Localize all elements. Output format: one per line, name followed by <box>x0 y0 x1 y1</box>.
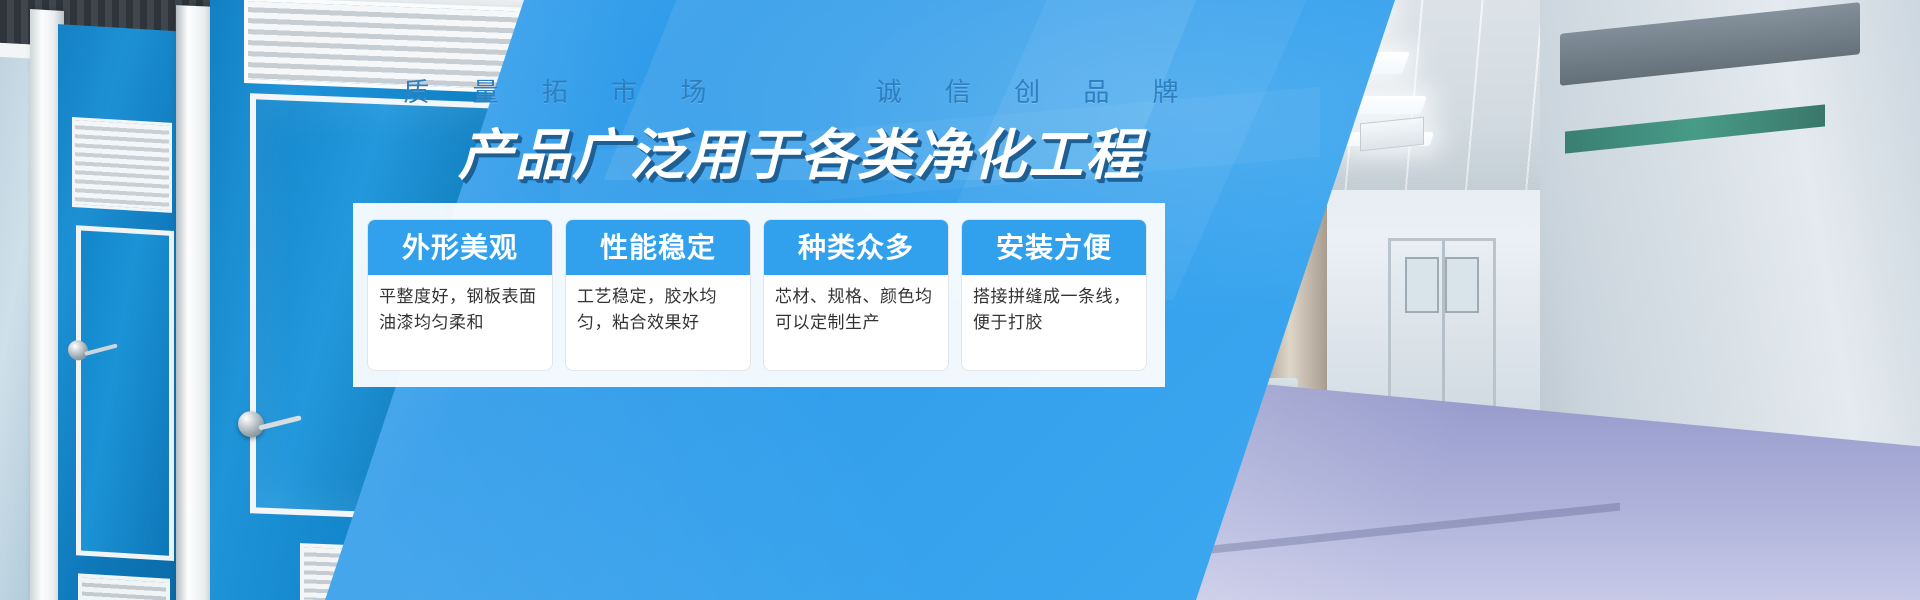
promo-banner: 质 量 拓 市 场 诚 信 创 品 牌 产品广泛用于各类净化工程 外形美观 平整… <box>0 0 1920 600</box>
door-handle-icon <box>68 340 88 361</box>
feature-panel: 外形美观 平整度好，钢板表面油漆均匀柔和 性能稳定 工艺稳定，胶水均匀，粘合效果… <box>353 203 1165 387</box>
cabin-vent-icon <box>72 117 172 213</box>
feature-body: 搭接拼缝成一条线，便于打胶 <box>962 275 1146 345</box>
feature-card-1[interactable]: 外形美观 平整度好，钢板表面油漆均匀柔和 <box>367 219 553 371</box>
overlay-highlight <box>604 0 1197 180</box>
feature-card-4[interactable]: 安装方便 搭接拼缝成一条线，便于打胶 <box>961 219 1147 371</box>
door-window <box>1405 257 1439 313</box>
feature-body: 平整度好，钢板表面油漆均匀柔和 <box>368 275 552 345</box>
door-window <box>1445 257 1479 313</box>
door-handle-icon <box>238 411 264 438</box>
cabin-grille-icon <box>78 573 170 600</box>
feature-body: 工艺稳定，胶水均匀，粘合效果好 <box>566 275 750 345</box>
feature-card-2[interactable]: 性能稳定 工艺稳定，胶水均匀，粘合效果好 <box>565 219 751 371</box>
cabin-louver-icon <box>244 0 534 94</box>
feature-card-3[interactable]: 种类众多 芯材、规格、颜色均可以定制生产 <box>763 219 949 371</box>
feature-title: 安装方便 <box>961 219 1147 275</box>
feature-body: 芯材、规格、颜色均可以定制生产 <box>764 275 948 345</box>
feature-title: 性能稳定 <box>565 219 751 275</box>
cabin-unit-b <box>58 24 188 600</box>
feature-title: 外形美观 <box>367 219 553 275</box>
feature-title: 种类众多 <box>763 219 949 275</box>
cabin-door-b <box>76 225 174 561</box>
